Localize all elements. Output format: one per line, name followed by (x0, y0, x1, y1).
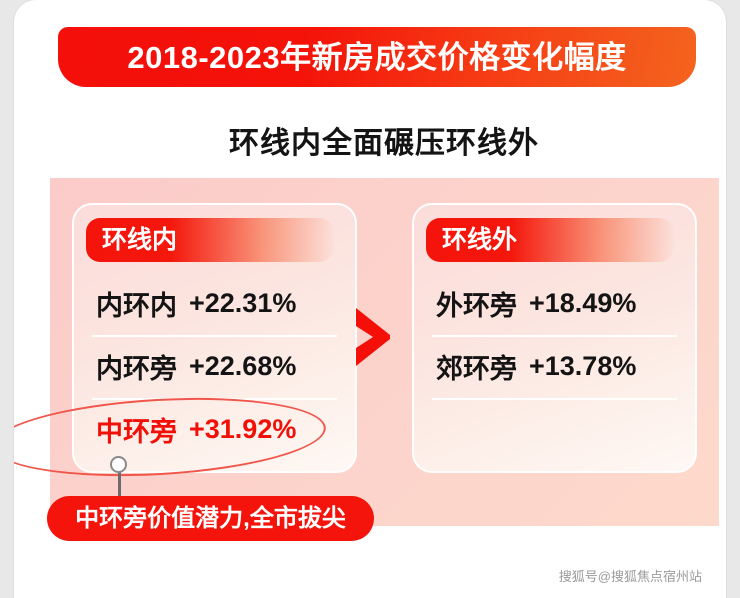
subtitle: 环线内全面碾压环线外 (14, 118, 726, 162)
badge-label: 环线内 (102, 228, 177, 253)
table-row: 外环旁 +18.49% (414, 272, 695, 335)
row-value: +22.68% (189, 351, 296, 382)
row-label: 郊环旁 (436, 347, 517, 386)
row-value: +13.78% (529, 351, 636, 382)
greater-than-icon (353, 308, 393, 366)
callout-anchor-dot (110, 456, 127, 473)
row-value: +31.92% (189, 414, 296, 445)
row-label: 内环旁 (96, 347, 177, 386)
table-row-highlighted: 中环旁 +31.92% (74, 398, 355, 461)
badge-inside-ring: 环线内 (86, 218, 334, 262)
badge-label: 环线外 (442, 228, 517, 253)
callout-label: 中环旁价值潜力,全市拔尖 (75, 507, 346, 531)
table-row-empty (414, 398, 695, 461)
rows-outside-ring: 外环旁 +18.49% 郊环旁 +13.78% (414, 272, 695, 461)
content-sheet: 2018-2023年新房成交价格变化幅度 环线内全面碾压环线外 环线内 内环内 … (14, 0, 726, 598)
card-inside-ring: 环线内 内环内 +22.31% 内环旁 +22.68% 中环旁 +31.92% (72, 203, 357, 473)
badge-outside-ring: 环线外 (426, 218, 674, 262)
rows-inside-ring: 内环内 +22.31% 内环旁 +22.68% 中环旁 +31.92% (74, 272, 355, 461)
title-banner: 2018-2023年新房成交价格变化幅度 (58, 27, 696, 87)
callout-pill: 中环旁价值潜力,全市拔尖 (47, 496, 374, 541)
watermark: 搜狐号@搜狐焦点宿州站 (559, 566, 702, 585)
table-row: 郊环旁 +13.78% (414, 335, 695, 398)
row-label: 中环旁 (96, 410, 177, 449)
table-row: 内环旁 +22.68% (74, 335, 355, 398)
row-label: 外环旁 (436, 284, 517, 323)
infographic-page: 2018-2023年新房成交价格变化幅度 环线内全面碾压环线外 环线内 内环内 … (0, 0, 740, 598)
row-label: 内环内 (96, 284, 177, 323)
card-outside-ring: 环线外 外环旁 +18.49% 郊环旁 +13.78% (412, 203, 697, 473)
table-row: 内环内 +22.31% (74, 272, 355, 335)
row-value: +18.49% (529, 288, 636, 319)
row-value: +22.31% (189, 288, 296, 319)
page-title: 2018-2023年新房成交价格变化幅度 (127, 42, 626, 73)
